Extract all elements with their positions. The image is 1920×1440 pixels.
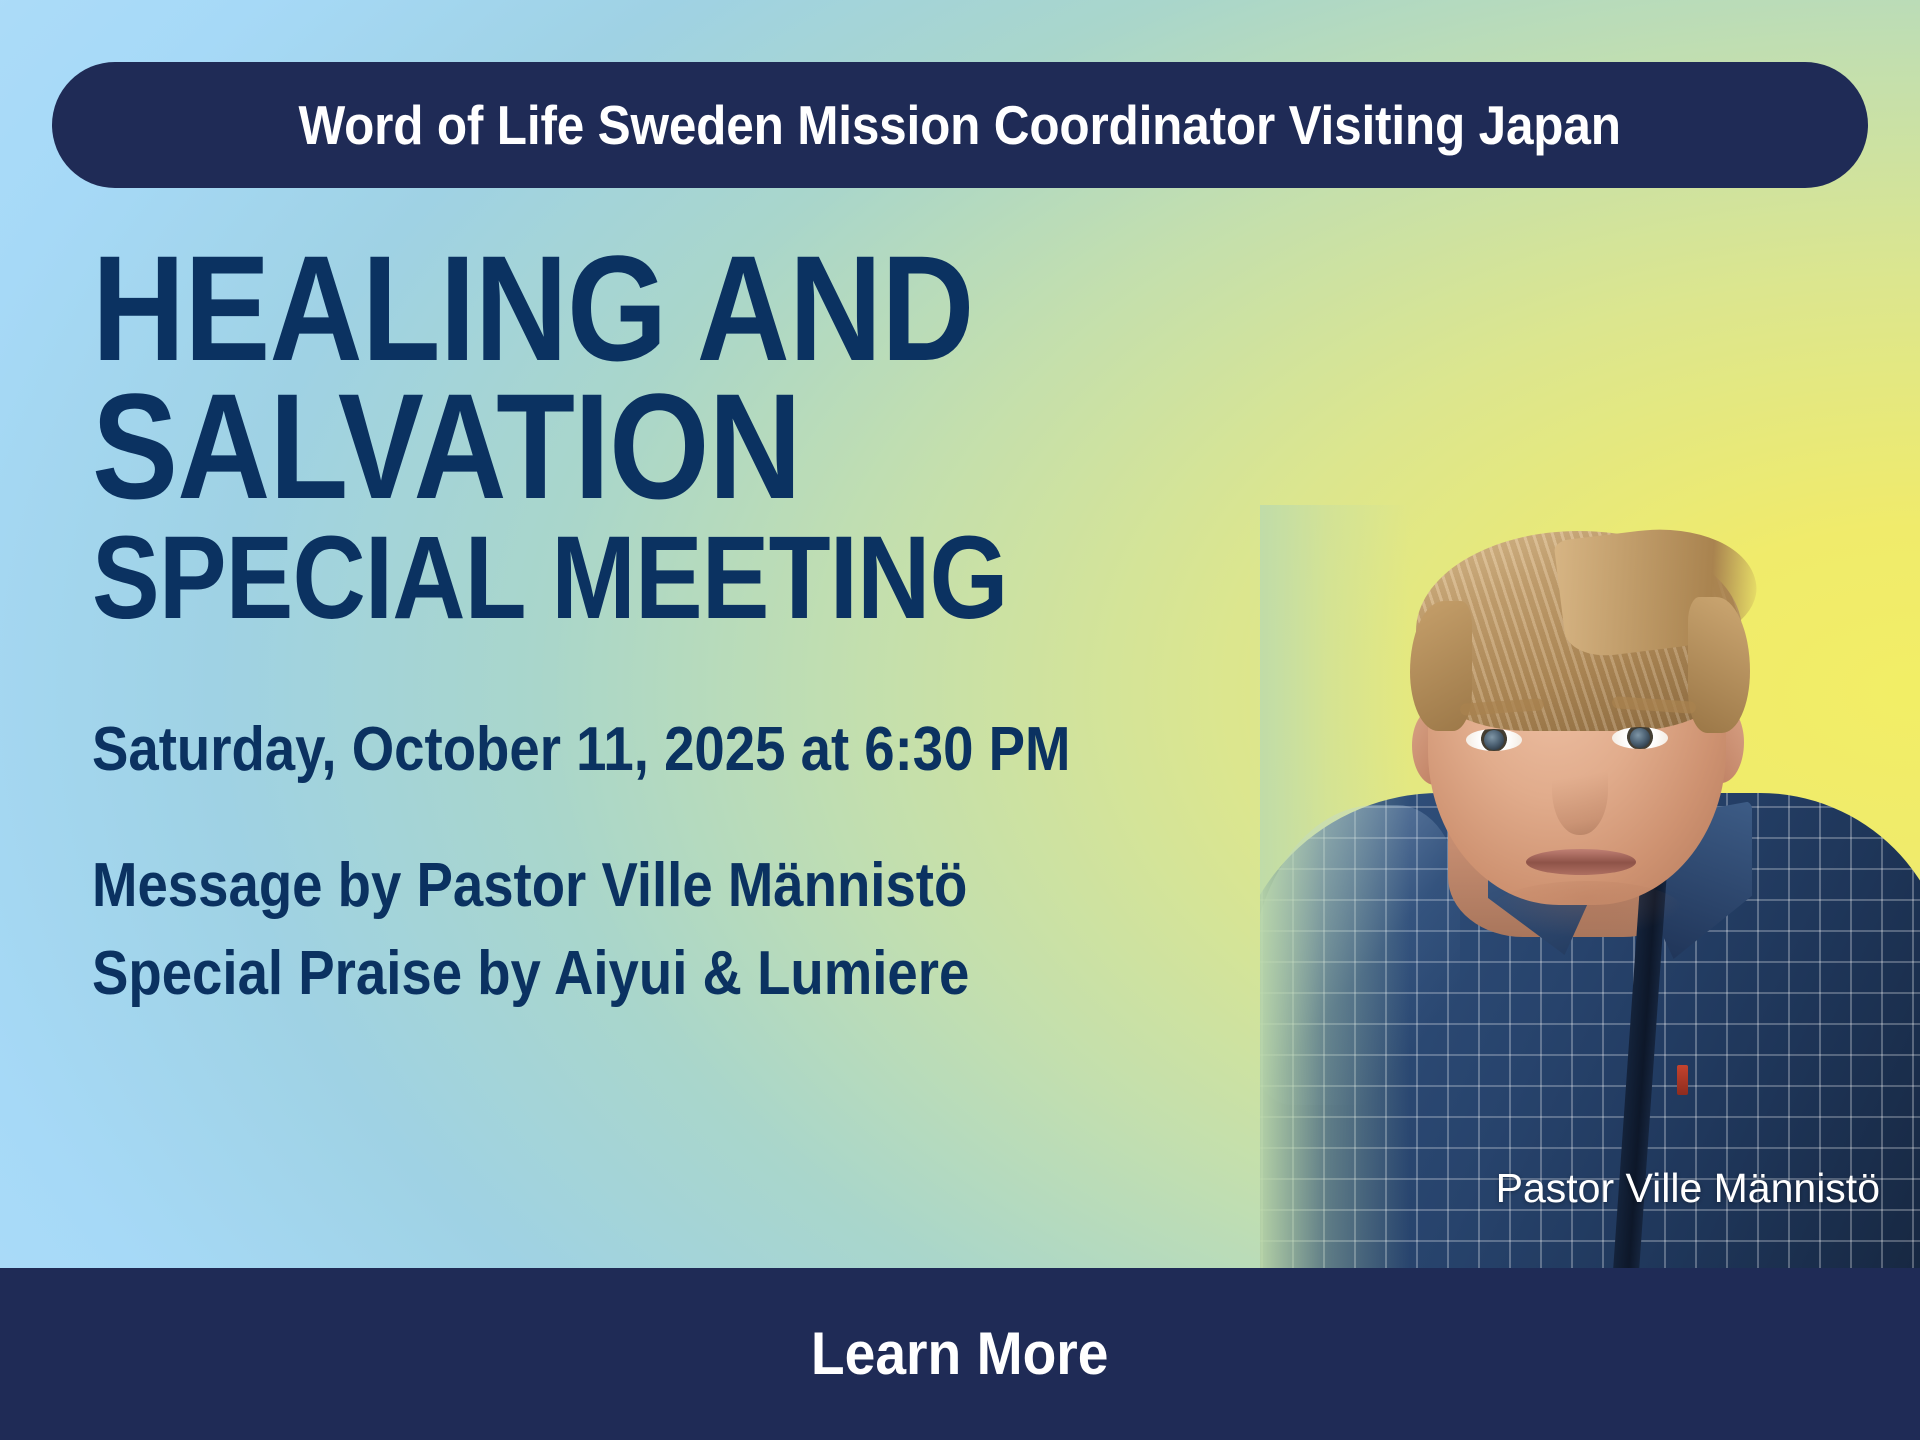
- mouth: [1526, 849, 1636, 875]
- headline-line-2: SALVATION: [92, 374, 1107, 518]
- banner-pill: Word of Life Sweden Mission Coordinator …: [52, 62, 1868, 188]
- pupil-right: [1630, 728, 1650, 748]
- nose: [1552, 741, 1608, 835]
- learn-more-bar[interactable]: Learn More: [0, 1268, 1920, 1440]
- pupil-left: [1484, 730, 1504, 750]
- headline-line-3: SPECIAL MEETING: [92, 522, 1107, 635]
- chin-shading: [1492, 881, 1682, 937]
- speaker-photo: [1260, 505, 1920, 1268]
- shirt-red-tab: [1677, 1065, 1688, 1095]
- banner-title: Word of Life Sweden Mission Coordinator …: [299, 98, 1621, 153]
- message-speaker-line: Message by Pastor Ville Männistö: [92, 855, 1130, 917]
- learn-more-label: Learn More: [811, 1324, 1109, 1384]
- photo-caption: Pastor Ville Männistö: [1496, 1168, 1880, 1209]
- event-poster: Word of Life Sweden Mission Coordinator …: [0, 0, 1920, 1440]
- poster-content: HEALING AND SALVATION SPECIAL MEETING Sa…: [92, 236, 1272, 1005]
- headline-line-1: HEALING AND: [92, 236, 1107, 380]
- event-datetime: Saturday, October 11, 2025 at 6:30 PM: [92, 719, 1130, 781]
- special-praise-line: Special Praise by Aiyui & Lumiere: [92, 943, 1130, 1005]
- photo-edge-fade: [1260, 505, 1410, 1268]
